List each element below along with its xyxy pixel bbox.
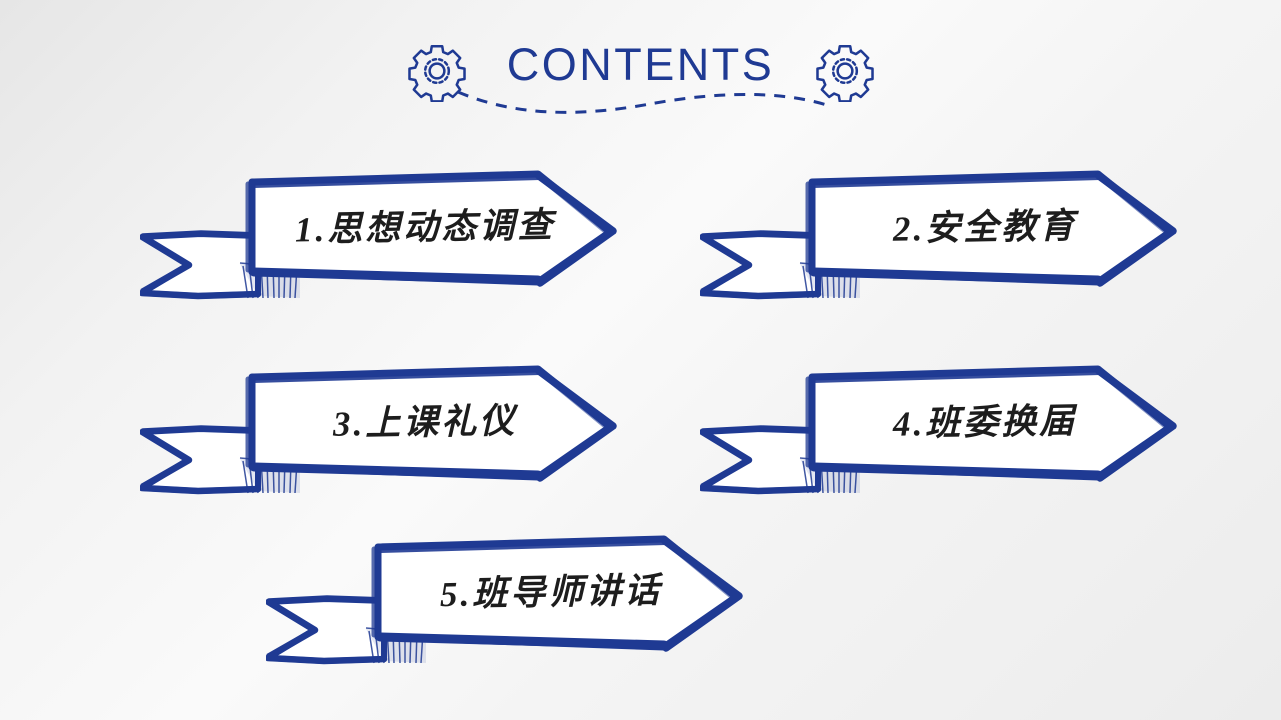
contents-item-4[interactable]: 4.班委换届: [700, 355, 1190, 505]
contents-item-3-label: 3.上课礼仪: [254, 385, 595, 454]
gear-icon: [406, 40, 468, 102]
slide-header: CONTENTS: [0, 34, 1281, 124]
slide-canvas: CONTENTS: [0, 0, 1281, 720]
contents-item-2-label: 2.安全教育: [814, 190, 1155, 259]
contents-item-5[interactable]: 5.班导师讲话: [266, 525, 756, 675]
contents-item-1[interactable]: 1.思想动态调查: [140, 160, 630, 310]
contents-item-5-label: 5.班导师讲话: [380, 555, 721, 624]
contents-item-1-label: 1.思想动态调查: [254, 190, 595, 259]
contents-item-3[interactable]: 3.上课礼仪: [140, 355, 630, 505]
gear-icon: [814, 40, 876, 102]
contents-item-4-label: 4.班委换届: [814, 385, 1155, 454]
page-title: CONTENTS: [406, 34, 876, 96]
contents-item-2[interactable]: 2.安全教育: [700, 160, 1190, 310]
dashed-wave-divider: [454, 80, 834, 120]
